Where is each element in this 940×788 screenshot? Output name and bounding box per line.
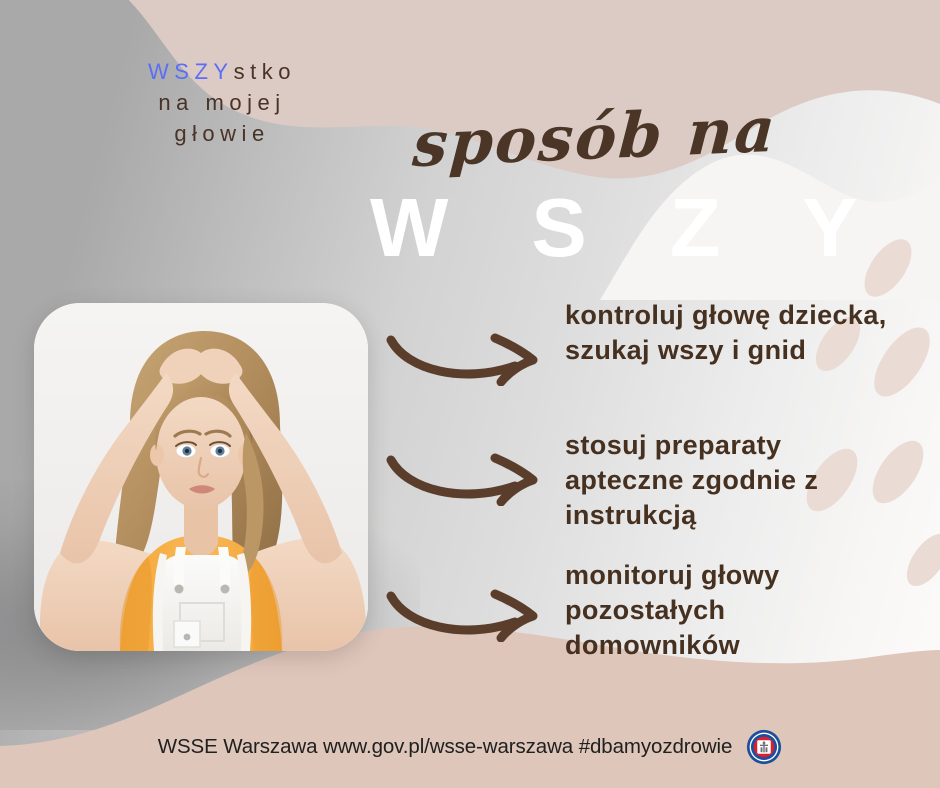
- girl-photo-illustration: [34, 303, 368, 651]
- tip-text: monitoruj głowy pozostałych domowników: [565, 556, 905, 663]
- overall-button: [175, 585, 184, 594]
- tip-text: stosuj preparaty apteczne zgodnie z inst…: [565, 426, 905, 533]
- footer: WSSE Warszawa www.gov.pl/wsse-warszawa #…: [0, 729, 940, 765]
- poster-canvas: WSZYstko na mojej głowie sposób na W S Z…: [0, 0, 940, 788]
- tip-text: kontroluj głowę dziecka, szukaj wszy i g…: [565, 296, 905, 368]
- script-title: sposób na: [411, 93, 779, 182]
- overall-button: [221, 585, 230, 594]
- tip-item: monitoruj głowy pozostałych domowników: [385, 556, 905, 676]
- tip-item: stosuj preparaty apteczne zgodnie z inst…: [385, 426, 905, 546]
- overall-button: [184, 634, 191, 641]
- footer-text: WSSE Warszawa www.gov.pl/wsse-warszawa #…: [158, 735, 733, 759]
- brand-heading-rest: stko: [234, 59, 296, 84]
- brand-heading-line-2: na mojej: [72, 87, 372, 118]
- brand-heading-highlight: WSZY: [148, 59, 234, 84]
- curved-arrow-right-icon: [385, 556, 565, 642]
- tip-item: kontroluj głowę dziecka, szukaj wszy i g…: [385, 296, 905, 416]
- brand-heading-line-1: WSZYstko: [72, 56, 372, 87]
- photo-card: [34, 303, 368, 651]
- brand-heading: WSZYstko na mojej głowie: [72, 56, 372, 150]
- brand-heading-line-3: głowie: [72, 118, 372, 149]
- page-title: W S Z Y: [370, 186, 887, 269]
- curved-arrow-right-icon: [385, 296, 565, 386]
- tips-list: kontroluj głowę dziecka, szukaj wszy i g…: [385, 296, 905, 686]
- wsse-emblem-logo: [746, 729, 782, 765]
- curved-arrow-right-icon: [385, 426, 565, 506]
